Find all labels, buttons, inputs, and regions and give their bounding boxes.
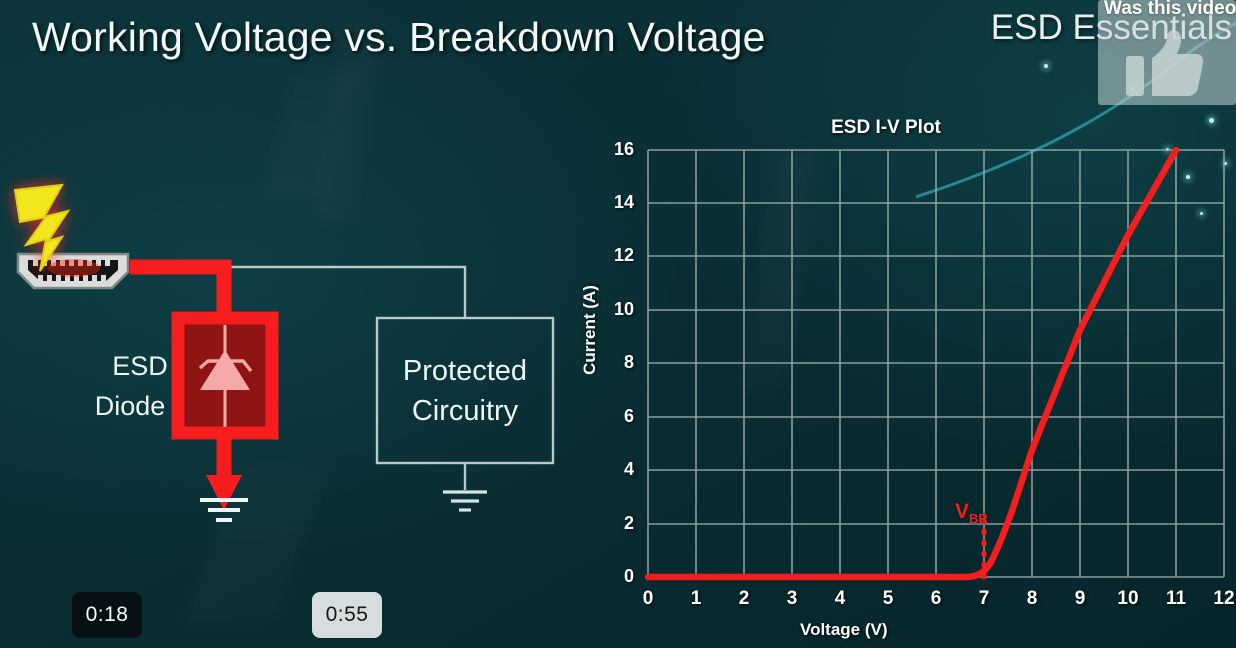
vbr-main: V (955, 500, 969, 523)
xtick-label: 9 (1060, 588, 1100, 610)
spark-dot (1044, 64, 1048, 68)
ytick-label: 16 (594, 139, 634, 160)
xtick-label: 5 (868, 588, 908, 610)
protected-box-label-line1: Protected (403, 355, 527, 387)
ytick-label: 6 (594, 406, 634, 427)
ytick-label: 14 (594, 192, 634, 213)
esd-diode-label-line1: ESD (112, 351, 168, 381)
ytick-label: 10 (594, 299, 634, 320)
ytick-label: 12 (594, 245, 634, 266)
current-time-badge[interactable]: 0:18 (72, 592, 142, 638)
ytick-label: 0 (594, 566, 634, 587)
esd-iv-chart: ESD I-V Plot Current (A) Voltage (V) (570, 105, 1236, 648)
ytick-label: 8 (594, 352, 634, 373)
thumbs-up-icon[interactable] (1126, 30, 1204, 96)
ground-symbol-protected (443, 492, 487, 510)
ytick-label: 4 (594, 459, 634, 480)
xtick-label: 3 (772, 588, 812, 610)
surge-arrow-head (206, 475, 242, 510)
ytick-label: 2 (594, 513, 634, 534)
total-time-badge[interactable]: 0:55 (312, 592, 382, 638)
xtick-label: 1 (676, 588, 716, 610)
video-survey-overlay[interactable]: Was this video (1098, 0, 1236, 105)
slide-canvas: Working Voltage vs. Breakdown Voltage ES… (0, 0, 1236, 648)
xtick-label: 12 (1204, 588, 1236, 610)
vbr-sub: BR (969, 511, 988, 526)
xtick-label: 7 (964, 588, 1004, 610)
xtick-label: 2 (724, 588, 764, 610)
protected-circuitry-box (377, 318, 553, 463)
esd-diode-label-line2: Diode (95, 391, 166, 421)
xtick-label: 0 (628, 588, 668, 610)
xtick-label: 11 (1156, 588, 1196, 610)
xtick-label: 8 (1012, 588, 1052, 610)
hdmi-connector-icon (18, 254, 128, 288)
xtick-label: 6 (916, 588, 956, 610)
survey-prompt: Was this video (1104, 0, 1236, 20)
circuit-diagram: ESD Diode Protected Circuitry (0, 175, 600, 555)
xtick-label: 10 (1108, 588, 1148, 610)
xtick-label: 4 (820, 588, 860, 610)
signal-wire (145, 267, 465, 318)
breakdown-voltage-label: VBR (955, 500, 988, 526)
protected-box-label-line2: Circuitry (412, 395, 519, 427)
page-title: Working Voltage vs. Breakdown Voltage (32, 14, 766, 61)
chart-plot-area (570, 105, 1236, 648)
